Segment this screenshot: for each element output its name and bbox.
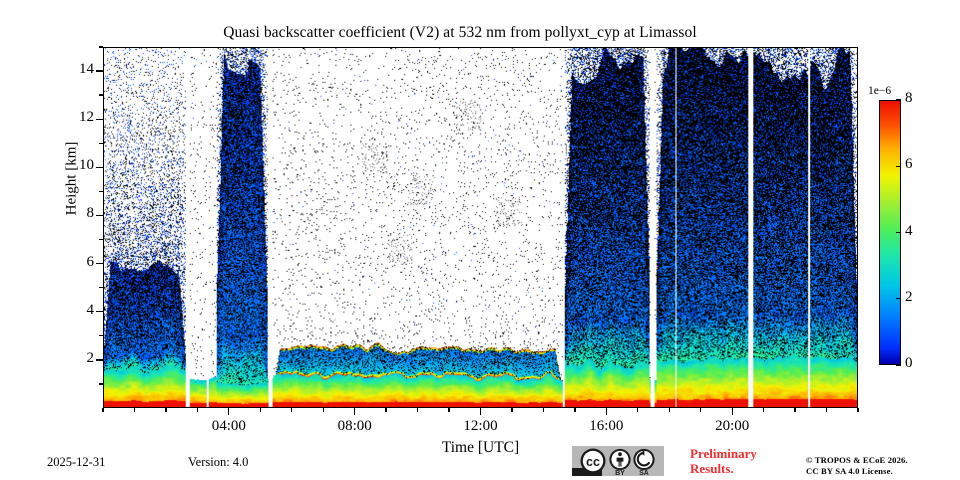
x-tick-minor-15 xyxy=(574,408,575,412)
preliminary-line-1: Preliminary xyxy=(690,447,790,462)
x-tick-minor-10 xyxy=(417,408,418,412)
preliminary-line-2: Results. xyxy=(690,462,790,477)
figure-root: Quasi backscatter coefficient (V2) at 53… xyxy=(0,0,960,480)
x-tick-label-4: 04:00 xyxy=(189,418,269,435)
x-tick-minor-3 xyxy=(197,408,198,412)
colorbar-tick-4 xyxy=(896,232,901,233)
x-tick-minor-7 xyxy=(323,408,324,412)
y-tick-major-12 xyxy=(96,119,103,120)
copyright-line-1: © TROPOS & ECoE 2026. xyxy=(806,455,908,466)
x-tick-major-12 xyxy=(480,408,481,415)
footer-date: 2025-12-31 xyxy=(47,455,105,470)
y-tick-label-2: 2 xyxy=(22,350,94,367)
x-tick-minor-11 xyxy=(448,408,449,412)
x-tick-minor-14 xyxy=(543,408,544,412)
x-tick-minor-9 xyxy=(385,408,386,412)
attribution-person-icon xyxy=(609,449,630,470)
y-tick-major-8 xyxy=(96,215,103,216)
copyright-line-2: CC BY SA 4.0 License. xyxy=(806,466,908,477)
colorbar-exponent-label: 1e−6 xyxy=(868,85,891,97)
x-tick-minor-21 xyxy=(763,408,764,412)
x-tick-major-16 xyxy=(606,408,607,415)
x-tick-minor-6 xyxy=(291,408,292,412)
y-tick-label-6: 6 xyxy=(22,254,94,271)
y-tick-label-10: 10 xyxy=(22,157,94,174)
footer-version: Version: 4.0 xyxy=(188,455,248,470)
heatmap-plot-area[interactable] xyxy=(103,47,858,408)
x-tick-minor-1 xyxy=(134,408,135,412)
x-tick-minor-0 xyxy=(102,408,103,412)
share-alike-icon xyxy=(633,449,654,470)
x-tick-label-8: 08:00 xyxy=(315,418,395,435)
x-tick-major-4 xyxy=(228,408,229,415)
x-tick-minor-24 xyxy=(857,408,858,412)
colorbar-tick-0 xyxy=(896,364,901,365)
y-tick-major-4 xyxy=(96,311,103,312)
creative-commons-icon: cc xyxy=(581,449,606,474)
y-tick-major-14 xyxy=(96,70,103,71)
y-tick-label-4: 4 xyxy=(22,302,94,319)
x-tick-major-8 xyxy=(354,408,355,415)
x-tick-minor-19 xyxy=(700,408,701,412)
heatmap-canvas xyxy=(104,48,857,407)
preliminary-results-notice: Preliminary Results. xyxy=(690,447,790,476)
y-tick-major-6 xyxy=(96,263,103,264)
x-tick-major-20 xyxy=(732,408,733,415)
cc-by-sa-badge[interactable]: cc BY SA xyxy=(572,446,664,476)
x-tick-minor-18 xyxy=(669,408,670,412)
page-title: Quasi backscatter coefficient (V2) at 53… xyxy=(0,24,920,42)
x-tick-minor-22 xyxy=(794,408,795,412)
colorbar-tick-label-2: 2 xyxy=(905,289,913,306)
colorbar-tick-label-8: 8 xyxy=(905,90,913,107)
x-tick-label-20: 20:00 xyxy=(692,418,772,435)
y-tick-label-14: 14 xyxy=(22,61,94,78)
colorbar-tick-label-6: 6 xyxy=(905,156,913,173)
y-tick-label-8: 8 xyxy=(22,205,94,222)
copyright-notice: © TROPOS & ECoE 2026. CC BY SA 4.0 Licen… xyxy=(806,455,908,476)
x-tick-minor-2 xyxy=(165,408,166,412)
colorbar-tick-6 xyxy=(896,166,901,167)
colorbar-tick-2 xyxy=(896,298,901,299)
y-tick-major-2 xyxy=(96,359,103,360)
x-tick-label-16: 16:00 xyxy=(566,418,646,435)
badge-by-label: BY xyxy=(615,470,625,476)
x-tick-minor-5 xyxy=(260,408,261,412)
y-tick-label-12: 12 xyxy=(22,109,94,126)
badge-sa-label: SA xyxy=(639,470,649,476)
x-tick-label-12: 12:00 xyxy=(441,418,521,435)
colorbar-tick-label-4: 4 xyxy=(905,223,913,240)
y-tick-major-10 xyxy=(96,167,103,168)
colorbar-tick-8 xyxy=(896,99,901,100)
x-tick-minor-17 xyxy=(637,408,638,412)
colorbar-tick-label-0: 0 xyxy=(905,355,913,372)
x-tick-minor-23 xyxy=(826,408,827,412)
svg-text:cc: cc xyxy=(586,455,600,469)
x-tick-minor-13 xyxy=(511,408,512,412)
